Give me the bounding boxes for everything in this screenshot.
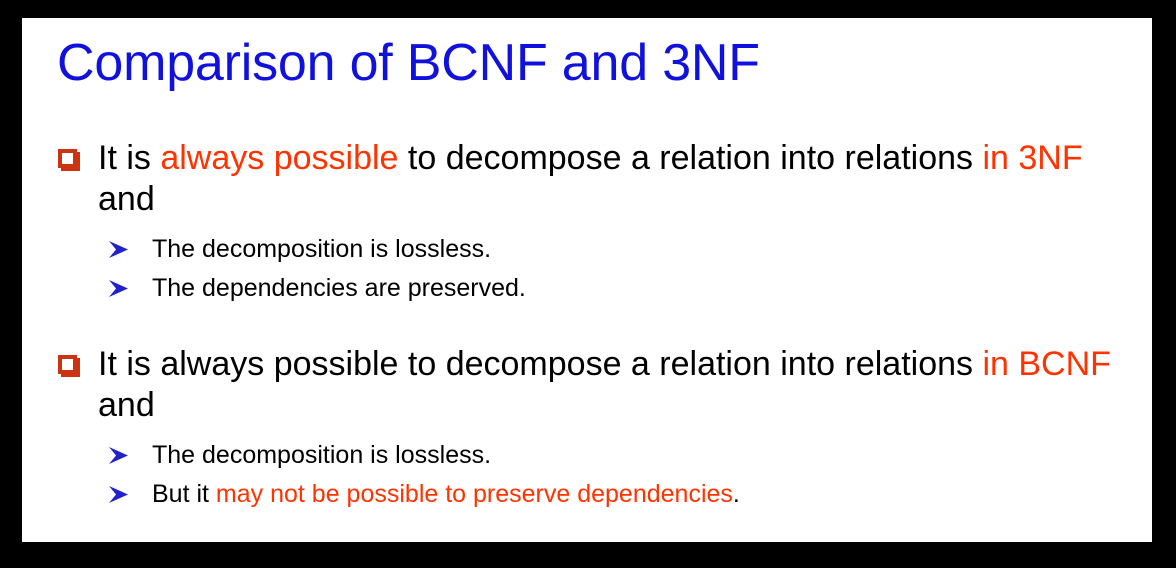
body-text: and — [98, 180, 155, 218]
square-bullet-icon — [58, 355, 77, 374]
arrow-bullet-icon — [108, 485, 130, 504]
arrow-bullet-icon — [108, 446, 130, 465]
bullet-item-level1: It is always possible to decompose a rel… — [22, 138, 1152, 220]
body-text: and — [98, 386, 155, 424]
body-text: The decomposition is lossless. — [152, 441, 491, 469]
body-text: The dependencies are preserved. — [152, 274, 526, 302]
highlighted-text: in 3NF — [982, 139, 1082, 177]
bullet-item-level1: It is always possible to decompose a rel… — [22, 344, 1152, 426]
body-text: But it — [152, 480, 216, 508]
slide-body: It is always possible to decompose a rel… — [22, 138, 1152, 514]
bullet-item-level2: The dependencies are preserved. — [22, 269, 1152, 308]
highlighted-text: in BCNF — [982, 345, 1110, 383]
sub-bullet-list: The decomposition is lossless.The depend… — [22, 230, 1152, 308]
square-bullet-icon — [58, 149, 77, 168]
page-title: Comparison of BCNF and 3NF — [57, 34, 760, 92]
highlighted-text: always possible — [160, 139, 398, 177]
highlighted-text: may not be possible to preserve dependen… — [216, 480, 733, 508]
slide-frame: Comparison of BCNF and 3NF It is always … — [0, 0, 1176, 568]
body-text: . — [733, 480, 740, 508]
bullet-item-level2: The decomposition is lossless. — [22, 436, 1152, 475]
body-text: to decompose a relation into relations — [398, 139, 982, 177]
arrow-bullet-icon — [108, 240, 130, 259]
bullet-item-level2: But it may not be possible to preserve d… — [22, 475, 1152, 514]
arrow-bullet-icon — [108, 279, 130, 298]
body-text: It is — [98, 139, 160, 177]
body-text: It is always possible to decompose a rel… — [98, 345, 982, 383]
bullet-block: It is always possible to decompose a rel… — [22, 138, 1152, 308]
bullet-block: It is always possible to decompose a rel… — [22, 344, 1152, 514]
body-text: The decomposition is lossless. — [152, 235, 491, 263]
slide-canvas: Comparison of BCNF and 3NF It is always … — [22, 18, 1152, 542]
sub-bullet-list: The decomposition is lossless.But it may… — [22, 436, 1152, 514]
bullet-item-level2: The decomposition is lossless. — [22, 230, 1152, 269]
